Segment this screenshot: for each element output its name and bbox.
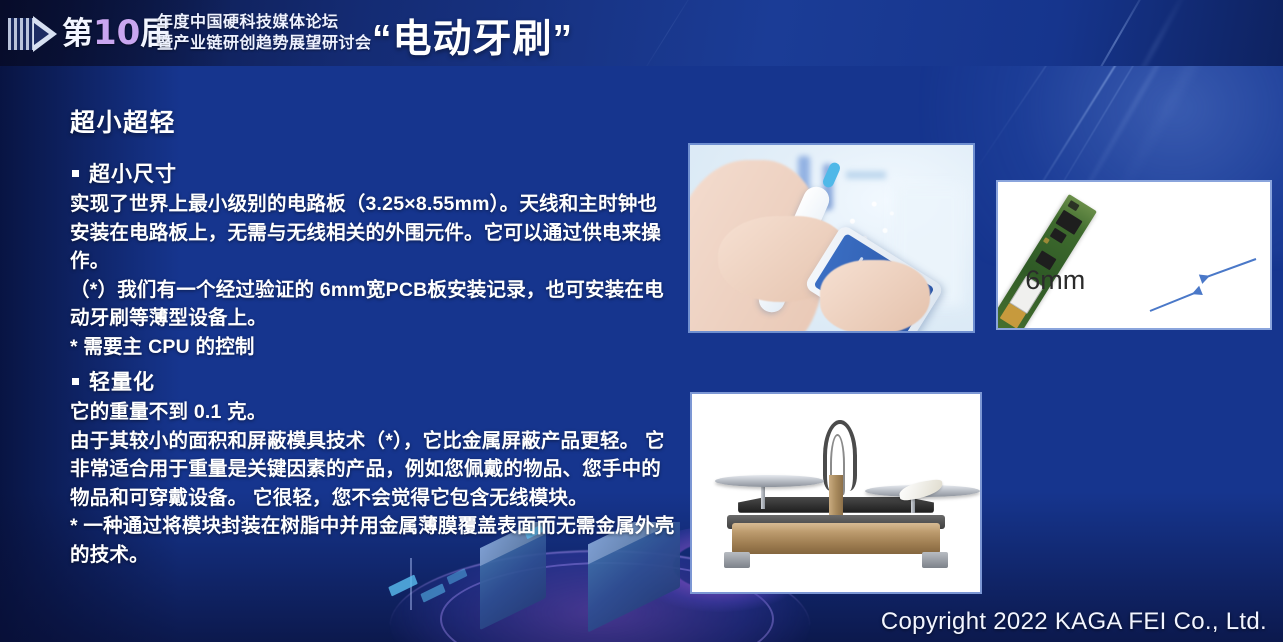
pcb-module-6mm-photo: 6mm — [996, 180, 1272, 330]
content-block-lightweight: 轻量化 它的重量不到 0.1 克。 由于其较小的面积和屏蔽模具技术（*），它比金… — [70, 366, 675, 569]
block-2-paragraph-3: * 一种通过将模块封装在树脂中并用金属薄膜覆盖表面而无需金属外壳的技术。 — [70, 512, 675, 569]
electric-toothbrush-and-smartphone-photo — [688, 143, 975, 333]
block-1-paragraph-3: * 需要主 CPU 的控制 — [70, 333, 670, 362]
slide-header: 第10届 年度中国硬科技媒体论坛 暨产业链研创趋势展望研讨会 “电动牙刷” — [0, 0, 1283, 66]
section-heading: 超小超轻 — [70, 103, 176, 139]
square-bullet-icon — [72, 170, 79, 177]
pcb-size-label: 6mm — [1025, 265, 1085, 296]
slide-root: 第10届 年度中国硬科技媒体论坛 暨产业链研创趋势展望研讨会 “电动牙刷” 超小… — [0, 0, 1283, 642]
edition-prefix: 第 — [62, 16, 93, 51]
forum-subtitle-line1: 年度中国硬科技媒体论坛 — [157, 12, 372, 33]
block-1-paragraph-2: （*）我们有一个经过验证的 6mm宽PCB板安装记录，也可安装在电动牙刷等薄型设… — [70, 276, 670, 333]
forum-subtitle: 年度中国硬科技媒体论坛 暨产业链研创趋势展望研讨会 — [157, 12, 372, 54]
block-2-paragraph-2: 由于其较小的面积和屏蔽模具技术（*），它比金属屏蔽产品更轻。 它非常适合用于重量… — [70, 427, 675, 513]
copyright-text: Copyright 2022 KAGA FEI Co., Ltd. — [881, 608, 1267, 636]
content-block-ultra-small: 超小尺寸 实现了世界上最小级别的电路板（3.25×8.55mm）。天线和主时钟也… — [70, 158, 670, 361]
square-bullet-icon — [72, 378, 79, 385]
slide-title: “电动牙刷” — [372, 8, 573, 64]
edition-number: 10 — [93, 13, 140, 53]
balance-scale-feather-photo — [690, 392, 982, 594]
forum-logo-icon — [8, 16, 60, 52]
block-2-bullet-label: 轻量化 — [89, 366, 155, 396]
edition-label: 第10届 — [62, 13, 171, 54]
block-1-paragraph-1: 实现了世界上最小级别的电路板（3.25×8.55mm）。天线和主时钟也安装在电路… — [70, 190, 670, 276]
forum-subtitle-line2: 暨产业链研创趋势展望研讨会 — [157, 33, 372, 54]
block-1-bullet-label: 超小尺寸 — [89, 158, 177, 188]
block-2-paragraph-1: 它的重量不到 0.1 克。 — [70, 398, 675, 427]
